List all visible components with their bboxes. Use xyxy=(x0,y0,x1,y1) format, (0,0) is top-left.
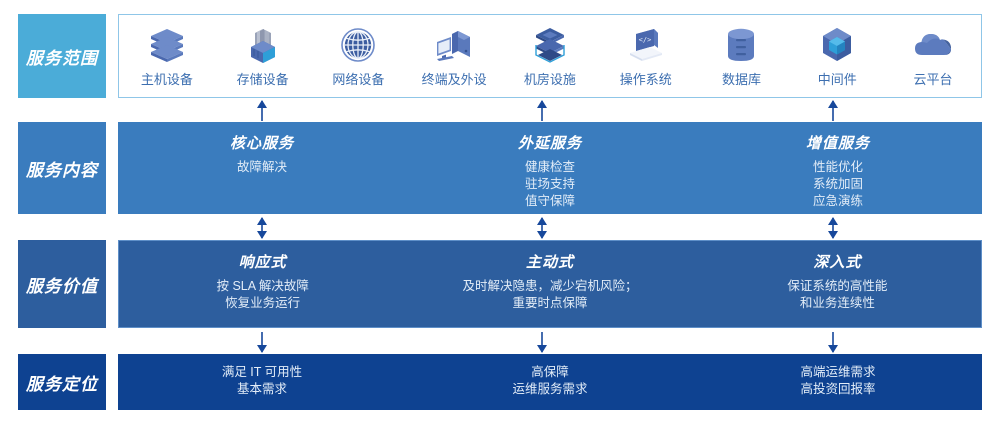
column-line: 按 SLA 解决故障 xyxy=(216,278,308,295)
column-lines: 健康检查 驻场支持 值守保障 xyxy=(525,159,575,210)
content-column-extended[interactable]: 外延服务 健康检查 驻场支持 值守保障 xyxy=(406,122,694,214)
scope-item-os[interactable]: </> 操作系统 xyxy=(604,25,688,88)
connector-row4-to-row3-col2 xyxy=(535,331,549,353)
column-line: 及时解决隐患，减少宕机风险； xyxy=(462,278,637,295)
server-stack-icon xyxy=(145,25,189,65)
column-lines: 故障解决 xyxy=(237,159,287,176)
connector-row3-row2-col1 xyxy=(255,217,269,239)
column-title: 深入式 xyxy=(813,251,861,272)
row-service-content: 服务内容 核心服务 故障解决 外延服务 健康检查 驻场支持 值守保障 xyxy=(0,122,1000,214)
scope-label: 数据库 xyxy=(722,69,761,88)
value-column-indepth[interactable]: 深入式 保证系统的高性能 和业务连续性 xyxy=(694,241,981,327)
column-line: 健康检查 xyxy=(525,159,575,176)
column-lines: 按 SLA 解决故障 恢复业务运行 xyxy=(216,278,308,312)
column-line: 高投资回报率 xyxy=(800,381,875,398)
connector-row2-to-row1-col2 xyxy=(535,100,549,122)
column-line: 基本需求 xyxy=(222,381,302,398)
scope-label: 云平台 xyxy=(913,69,952,88)
column-line: 应急演练 xyxy=(813,193,863,210)
column-lines: 高保障 运维服务需求 xyxy=(512,364,587,398)
column-line: 值守保障 xyxy=(525,193,575,210)
row-label-service-value: 服务价值 xyxy=(18,240,106,328)
scope-item-host[interactable]: 主机设备 xyxy=(125,25,209,88)
scope-item-network[interactable]: 网络设备 xyxy=(316,25,400,88)
content-column-value-added[interactable]: 增值服务 性能优化 系统加固 应急演练 xyxy=(694,122,982,214)
scope-label: 存储设备 xyxy=(237,69,289,88)
column-title: 外延服务 xyxy=(518,132,582,153)
connector-row2-to-row1-col3 xyxy=(826,100,840,122)
scope-item-datacenter[interactable]: 机房设施 xyxy=(508,25,592,88)
column-lines: 保证系统的高性能 和业务连续性 xyxy=(787,278,887,312)
content-column-core[interactable]: 核心服务 故障解决 xyxy=(118,122,406,214)
positioning-column-assurance[interactable]: 高保障 运维服务需求 xyxy=(406,354,694,410)
connector-row2-to-row1-col1 xyxy=(255,100,269,122)
cloud-icon xyxy=(911,25,955,65)
scope-item-terminal[interactable]: 终端及外设 xyxy=(412,25,496,88)
service-content-panel: 核心服务 故障解决 外延服务 健康检查 驻场支持 值守保障 增值服务 xyxy=(118,122,982,214)
column-line: 重要时点保障 xyxy=(462,295,637,312)
column-title: 主动式 xyxy=(526,251,574,272)
column-line: 运维服务需求 xyxy=(512,381,587,398)
column-line: 满足 IT 可用性 xyxy=(222,364,302,381)
svg-text:</>: </> xyxy=(638,36,651,44)
positioning-column-basic[interactable]: 满足 IT 可用性 基本需求 xyxy=(118,354,406,410)
row-service-scope: 服务范围 主机设备 xyxy=(0,14,1000,98)
row-label-service-content: 服务内容 xyxy=(18,122,106,214)
storage-array-icon xyxy=(241,25,285,65)
scope-label: 操作系统 xyxy=(620,69,672,88)
scope-label: 机房设施 xyxy=(524,69,576,88)
service-capability-diagram: 服务范围 主机设备 xyxy=(0,0,1000,424)
column-title: 响应式 xyxy=(239,251,287,272)
column-line: 性能优化 xyxy=(813,159,863,176)
column-lines: 性能优化 系统加固 应急演练 xyxy=(813,159,863,210)
desktop-terminal-icon xyxy=(432,25,476,65)
column-line: 驻场支持 xyxy=(525,176,575,193)
scope-label: 终端及外设 xyxy=(422,69,487,88)
globe-network-icon xyxy=(336,25,380,65)
row-label-service-positioning: 服务定位 xyxy=(18,354,106,410)
data-center-icon xyxy=(528,25,572,65)
laptop-code-icon: </> xyxy=(624,25,668,65)
scope-label: 中间件 xyxy=(818,69,857,88)
column-line: 系统加固 xyxy=(813,176,863,193)
column-line: 高保障 xyxy=(512,364,587,381)
scope-item-cloud[interactable]: 云平台 xyxy=(891,25,975,88)
column-line: 故障解决 xyxy=(237,159,287,176)
column-line: 保证系统的高性能 xyxy=(787,278,887,295)
row-label-service-scope: 服务范围 xyxy=(18,14,106,98)
column-lines: 及时解决隐患，减少宕机风险； 重要时点保障 xyxy=(462,278,637,312)
column-line: 恢复业务运行 xyxy=(216,295,308,312)
row-service-value: 服务价值 响应式 按 SLA 解决故障 恢复业务运行 主动式 及时解决隐患，减少… xyxy=(0,240,1000,328)
connector-row4-to-row3-col1 xyxy=(255,331,269,353)
service-scope-panel: 主机设备 存储设备 xyxy=(118,14,982,98)
column-title: 增值服务 xyxy=(806,132,870,153)
positioning-column-premium[interactable]: 高端运维需求 高投资回报率 xyxy=(694,354,982,410)
database-icon xyxy=(719,25,763,65)
scope-label: 主机设备 xyxy=(141,69,193,88)
service-value-panel: 响应式 按 SLA 解决故障 恢复业务运行 主动式 及时解决隐患，减少宕机风险；… xyxy=(118,240,982,328)
column-lines: 高端运维需求 高投资回报率 xyxy=(800,364,875,398)
connector-row4-to-row3-col3 xyxy=(826,331,840,353)
column-line: 高端运维需求 xyxy=(800,364,875,381)
value-column-proactive[interactable]: 主动式 及时解决隐患，减少宕机风险； 重要时点保障 xyxy=(406,241,693,327)
column-lines: 满足 IT 可用性 基本需求 xyxy=(222,364,302,398)
service-positioning-panel: 满足 IT 可用性 基本需求 高保障 运维服务需求 高端运维需求 高投资回报率 xyxy=(118,354,982,410)
scope-item-database[interactable]: 数据库 xyxy=(699,25,783,88)
scope-label: 网络设备 xyxy=(332,69,384,88)
connector-row3-row2-col2 xyxy=(535,217,549,239)
cube-middleware-icon xyxy=(815,25,859,65)
column-line: 和业务连续性 xyxy=(787,295,887,312)
column-title: 核心服务 xyxy=(230,132,294,153)
scope-item-storage[interactable]: 存储设备 xyxy=(221,25,305,88)
value-column-responsive[interactable]: 响应式 按 SLA 解决故障 恢复业务运行 xyxy=(119,241,406,327)
row-service-positioning: 服务定位 满足 IT 可用性 基本需求 高保障 运维服务需求 xyxy=(0,354,1000,410)
scope-item-middleware[interactable]: 中间件 xyxy=(795,25,879,88)
connector-row3-row2-col3 xyxy=(826,217,840,239)
